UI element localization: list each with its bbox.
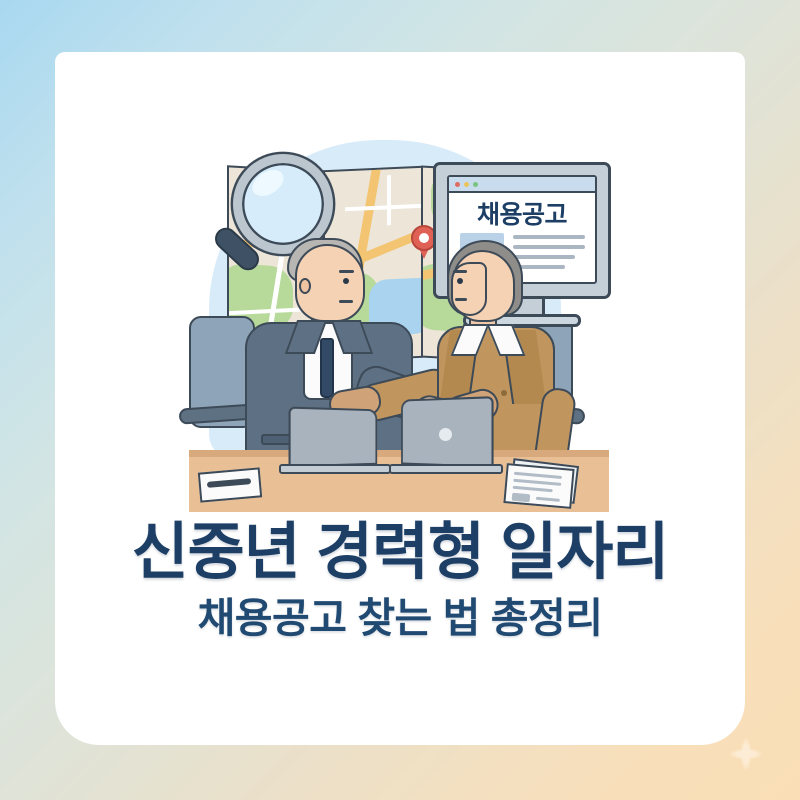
- man-eyebrow: [339, 270, 354, 273]
- document-stack-front: [503, 463, 574, 509]
- window-minimize-dot-icon[interactable]: [464, 182, 469, 187]
- man-mouth: [339, 300, 353, 303]
- laptop-right-base: [389, 464, 503, 474]
- browser-titlebar: [449, 177, 595, 193]
- office-desk-edge: [189, 450, 609, 457]
- illustration-scene: 채용공고: [153, 88, 603, 518]
- page-subtitle: 채용공고 찾는 법 총정리: [55, 595, 745, 642]
- page-title: 신중년 경력형 일자리: [55, 520, 745, 585]
- man-eye: [343, 278, 349, 284]
- poster-canvas: 채용공고: [0, 0, 800, 800]
- woman-eye: [457, 278, 463, 284]
- man-ear: [299, 278, 311, 294]
- woman-mouth: [455, 298, 467, 301]
- man-necktie: [320, 338, 334, 398]
- woman-eyebrow: [453, 270, 467, 273]
- window-close-dot-icon[interactable]: [455, 182, 460, 187]
- screen-heading-text: 채용공고: [449, 195, 595, 231]
- laptop-left-base: [279, 464, 391, 474]
- woman-blazer-button: [501, 390, 507, 396]
- laptop-left-screen: [289, 407, 378, 468]
- window-maximize-dot-icon[interactable]: [473, 182, 478, 187]
- sparkle-decoration-icon: [722, 730, 770, 778]
- title-block: 신중년 경력형 일자리 채용공고 찾는 법 총정리: [55, 520, 745, 642]
- laptop-logo-icon: [439, 428, 452, 441]
